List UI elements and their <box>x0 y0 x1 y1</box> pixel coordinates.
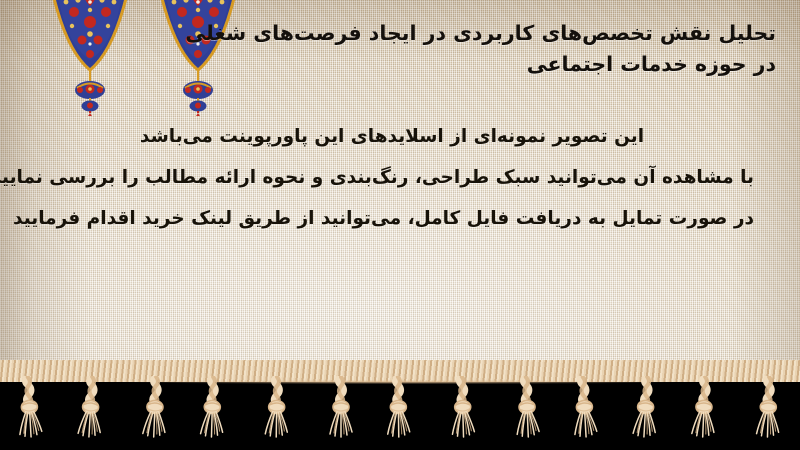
knotted-tassel-fringe <box>0 360 800 450</box>
tassel <box>445 376 479 450</box>
tassel <box>324 376 358 450</box>
slide-title: تحلیل نقش تخصص‌های کاربردی در ایجاد فرصت… <box>176 18 776 80</box>
body-line-2: با مشاهده آن می‌توانید سبک طراحی، رنگ‌بن… <box>44 168 754 188</box>
tassel <box>752 376 786 450</box>
body-line-1: این تصویر نمونه‌ای از اسلایدهای این پاور… <box>44 127 754 147</box>
tassel <box>688 376 722 450</box>
tassel <box>11 376 45 450</box>
slide-canvas: تحلیل نقش تخصص‌های کاربردی در ایجاد فرصت… <box>0 0 800 450</box>
tassel <box>139 376 173 450</box>
tassel <box>630 376 664 450</box>
tassel <box>260 376 294 450</box>
body-line-3: در صورت تمایل به دریافت فایل کامل، می‌تو… <box>44 209 754 229</box>
tassel <box>566 376 600 450</box>
slide-body: این تصویر نمونه‌ای از اسلایدهای این پاور… <box>44 108 754 251</box>
persian-illumination-medallion-icon <box>44 0 136 120</box>
tassel <box>75 376 109 450</box>
tassel <box>381 376 415 450</box>
tassel <box>196 376 230 450</box>
tassel <box>509 376 543 450</box>
